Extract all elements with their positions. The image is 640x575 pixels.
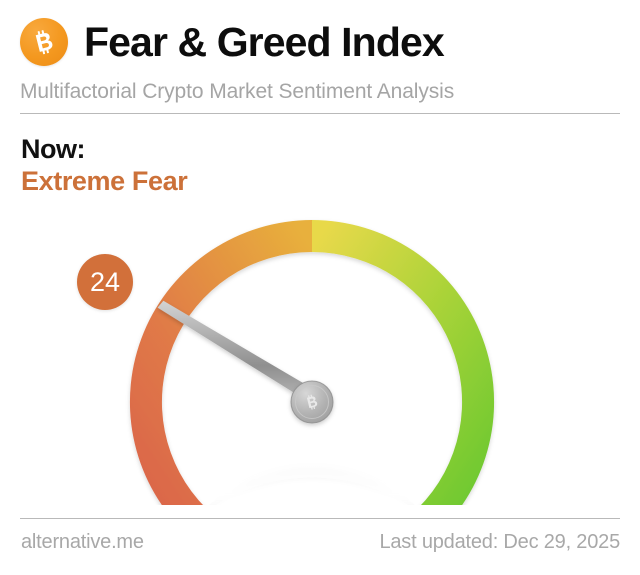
status-classification: Extreme Fear [21, 167, 187, 195]
gauge-arc [130, 220, 494, 505]
page-title: Fear & Greed Index [84, 22, 444, 63]
page-subtitle: Multifactorial Crypto Market Sentiment A… [20, 80, 454, 104]
bitcoin-icon [20, 18, 68, 66]
fear-greed-index-card: Fear & Greed Index Multifactorial Crypto… [0, 0, 640, 575]
title-row: Fear & Greed Index [20, 16, 444, 68]
now-label: Now: [21, 135, 85, 163]
last-updated-label: Last updated: Dec 29, 2025 [379, 531, 620, 554]
header-divider [20, 113, 620, 114]
gauge-hub [291, 381, 333, 423]
gauge [0, 195, 640, 505]
gauge-value-badge: 24 [77, 254, 133, 310]
footer-divider [20, 518, 620, 519]
source-label[interactable]: alternative.me [21, 531, 144, 554]
